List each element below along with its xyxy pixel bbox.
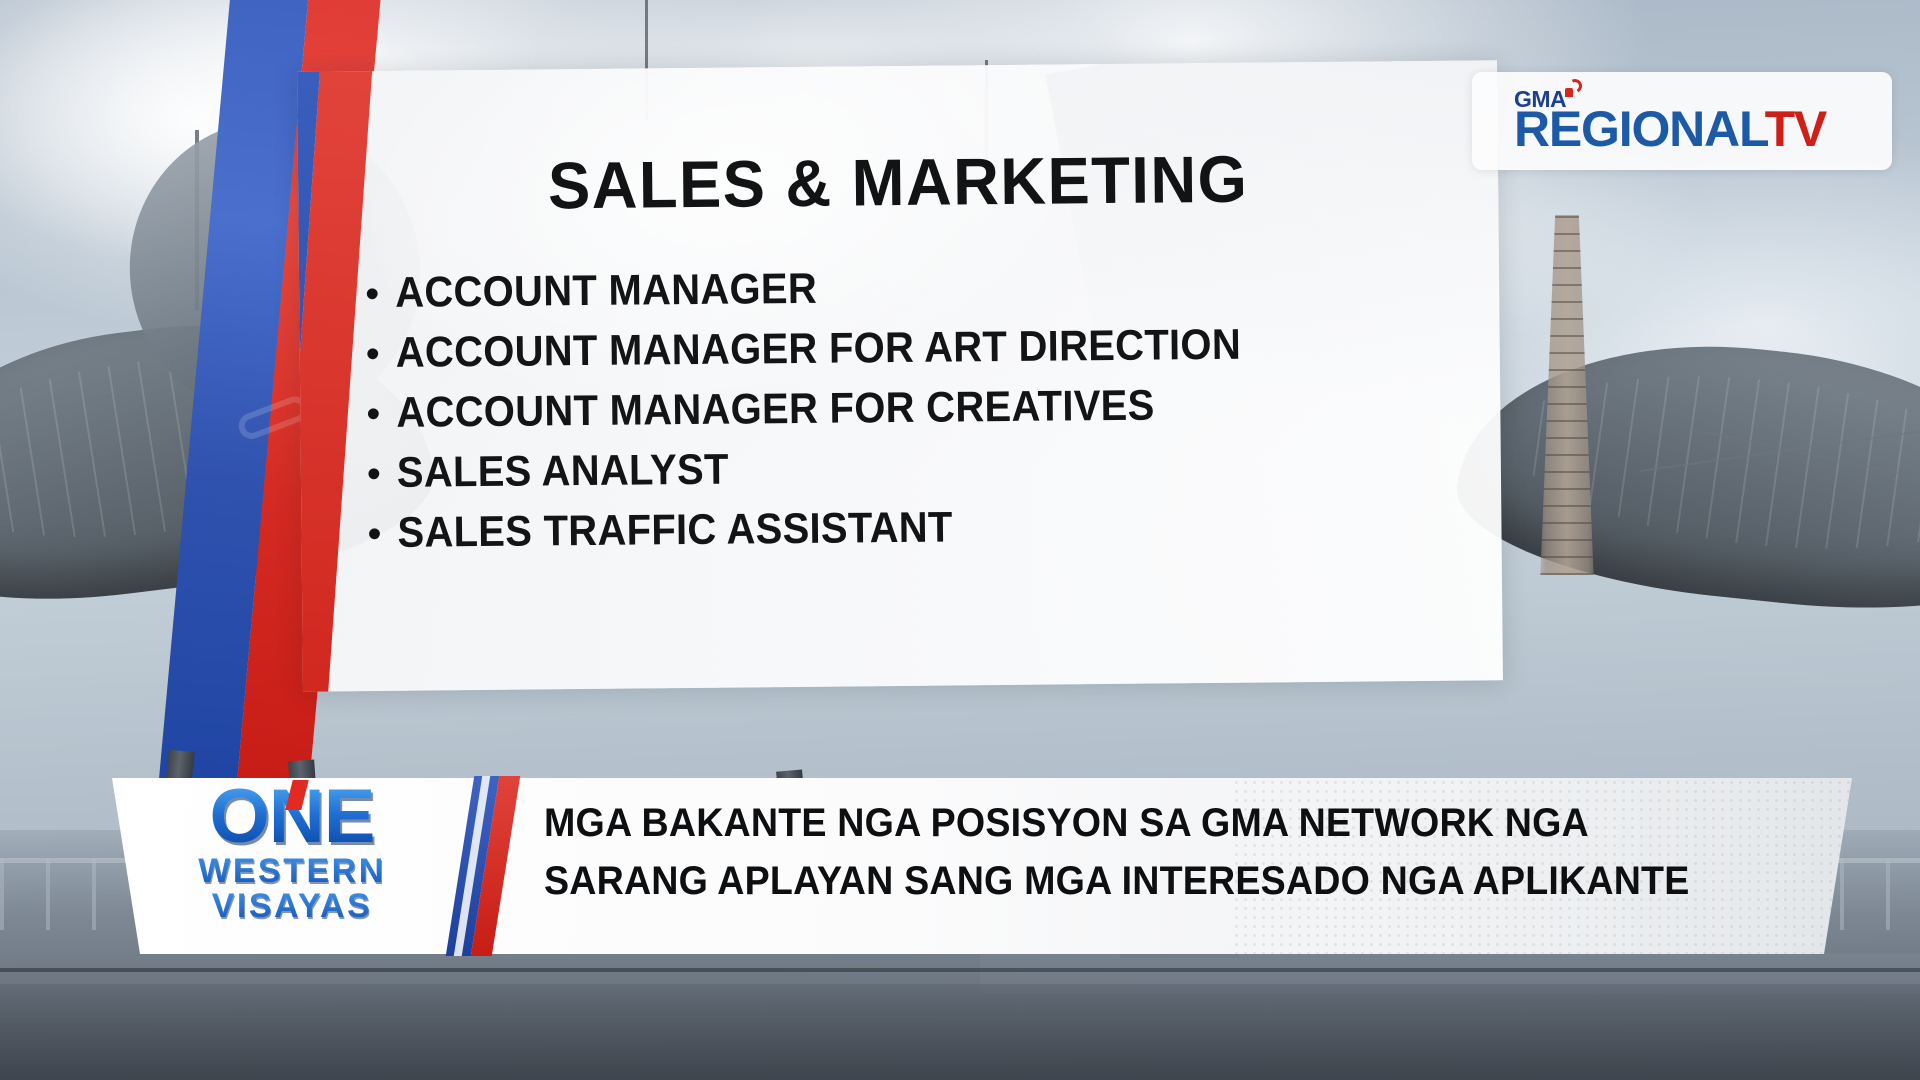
list-item-label: ACCOUNT MANAGER FOR ART DIRECTION bbox=[396, 321, 1242, 378]
list-item-label: ACCOUNT MANAGER FOR CREATIVES bbox=[396, 382, 1155, 438]
list-item: • ACCOUNT MANAGER bbox=[365, 259, 1470, 330]
list-item: • SALES TRAFFIC ASSISTANT bbox=[367, 499, 1472, 570]
list-item: • SALES ANALYST bbox=[367, 439, 1472, 510]
bullet-icon: • bbox=[366, 334, 396, 374]
program-logo-visayas: VISAYAS bbox=[158, 889, 426, 923]
regional-tv-wordmark: REGIONALTV bbox=[1514, 104, 1826, 154]
list-item-label: ACCOUNT MANAGER bbox=[395, 265, 817, 318]
bullet-icon: • bbox=[365, 274, 395, 314]
broadcast-frame: SALES & MARKETING • ACCOUNT MANAGER • AC… bbox=[0, 0, 1920, 1080]
headline-line-2: SARANG APLAYAN SANG MGA INTERESADO NGA A… bbox=[544, 852, 1736, 910]
job-listing-slide: SALES & MARKETING • ACCOUNT MANAGER • AC… bbox=[297, 60, 1503, 691]
list-item: • ACCOUNT MANAGER FOR CREATIVES bbox=[366, 379, 1471, 450]
rooftop-edge-line bbox=[0, 968, 1920, 972]
bullet-icon: • bbox=[366, 394, 396, 434]
satellite-dish-icon bbox=[1563, 79, 1585, 97]
regional-label: REGIONAL bbox=[1514, 101, 1765, 157]
bullet-icon: • bbox=[367, 514, 397, 554]
list-item-label: SALES ANALYST bbox=[397, 446, 729, 498]
tv-label: TV bbox=[1765, 101, 1827, 157]
lower-third-banner: ONE WESTERN VISAYAS MGA BAKANTE NGA POSI… bbox=[112, 778, 1852, 954]
job-position-list: • ACCOUNT MANAGER • ACCOUNT MANAGER FOR … bbox=[365, 259, 1472, 570]
channel-logo-bug: GMA REGIONALTV bbox=[1472, 72, 1892, 170]
headline-line-1: MGA BAKANTE NGA POSISYON SA GMA NETWORK … bbox=[544, 794, 1736, 852]
headline-block: MGA BAKANTE NGA POSISYON SA GMA NETWORK … bbox=[544, 794, 1812, 910]
bottom-photo-strip bbox=[0, 984, 1920, 1080]
slide-title: SALES & MARKETING bbox=[322, 138, 1475, 225]
list-item: • ACCOUNT MANAGER FOR ART DIRECTION bbox=[366, 319, 1471, 390]
program-logo-western: WESTERN bbox=[158, 854, 426, 888]
program-logo: ONE WESTERN VISAYAS bbox=[158, 782, 426, 950]
bullet-icon: • bbox=[367, 454, 397, 494]
list-item-label: SALES TRAFFIC ASSISTANT bbox=[397, 504, 953, 558]
